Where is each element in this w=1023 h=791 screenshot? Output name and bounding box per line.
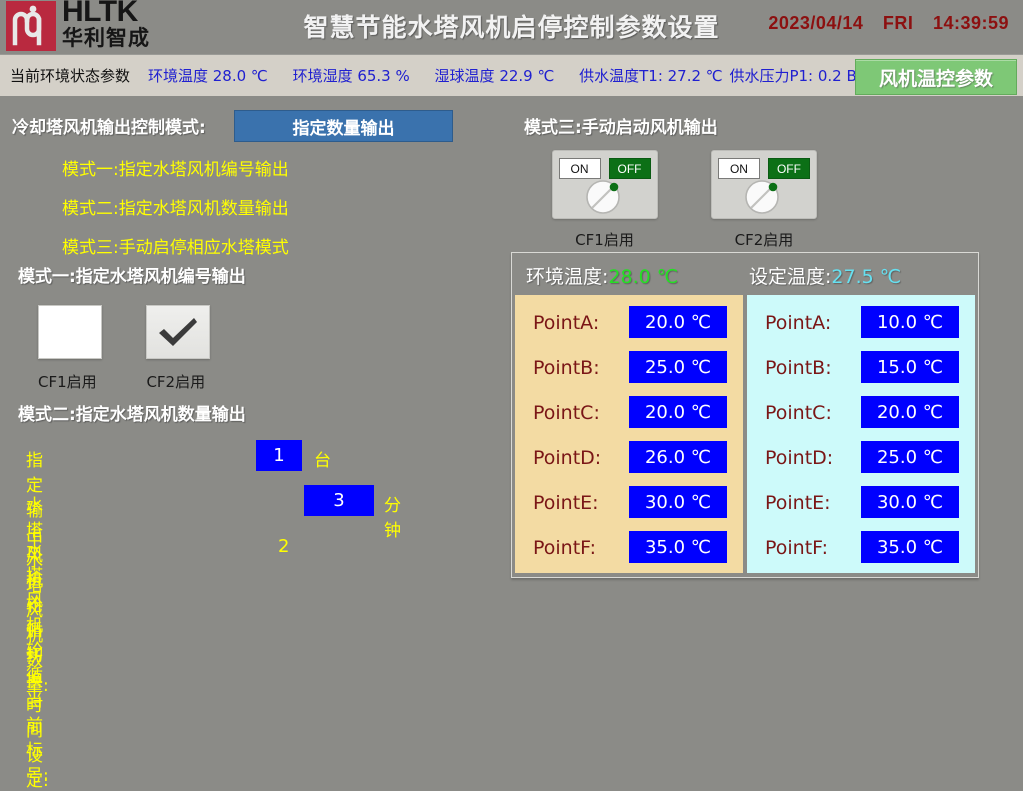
cf1-off-button[interactable]: OFF	[609, 158, 651, 179]
fan-temp-params-button[interactable]: 风机温控参数	[855, 59, 1017, 95]
status-item-supply-temp: 供水温度T1: 27.2 ℃	[579, 67, 723, 85]
env-temp-value: 28.0 ℃	[608, 266, 678, 288]
table-row: PointA: 10.0 ℃	[747, 303, 975, 348]
cf1-checkbox-label: CF1启用	[38, 371, 142, 392]
table-row: PointD: 26.0 ℃	[515, 438, 743, 483]
cf1-switch-label: CF1启用	[527, 229, 682, 250]
status-bar-values: 环境温度 28.0 ℃ 环境湿度 65.3 % 湿球温度 22.9 ℃ 供水温度…	[148, 65, 892, 86]
env-temp-readout: 环境温度:28.0 ℃	[526, 262, 678, 289]
point-label: PointA:	[533, 312, 599, 334]
point-value-input[interactable]: 30.0 ℃	[629, 486, 727, 518]
mode1-section-title: 模式一:指定水塔风机编号输出	[18, 262, 246, 287]
point-label: PointB:	[533, 357, 600, 379]
point-value-input[interactable]: 25.0 ℃	[861, 441, 959, 473]
output-mode-label: 冷却塔风机输出控制模式:	[12, 113, 206, 138]
hmi-screen: HLTK 华利智成 智慧节能水塔风机启停控制参数设置 2023/04/14 FR…	[0, 0, 1023, 594]
point-label: PointE:	[765, 492, 831, 514]
point-value-input[interactable]: 20.0 ℃	[629, 306, 727, 338]
point-label: PointC:	[533, 402, 600, 424]
table-row: PointB: 15.0 ℃	[747, 348, 975, 393]
cf2-off-button[interactable]: OFF	[768, 158, 810, 179]
status-item-wetbulb-temp: 湿球温度 22.9 ℃	[435, 67, 555, 85]
checkbox-item-cf2: CF2启用	[146, 305, 250, 392]
rotation-interval-input[interactable]: 3	[304, 485, 374, 516]
rotation-interval-unit: 分钟	[384, 491, 401, 541]
temperature-panel-header: 环境温度:28.0 ℃ 设定温度:27.5 ℃	[512, 253, 978, 295]
point-value-input[interactable]: 20.0 ℃	[629, 396, 727, 428]
mode3-switch-group: ON OFF CF1启用 ON OFF	[527, 150, 841, 250]
mode-option-list: 模式一:指定水塔风机编号输出 模式二:指定水塔风机数量输出 模式三:手动启停相应…	[62, 155, 289, 272]
table-row: PointA: 20.0 ℃	[515, 303, 743, 348]
set-temp-label: 设定温度:	[749, 266, 831, 288]
table-row: PointE: 30.0 ℃	[515, 483, 743, 528]
mode-option-1[interactable]: 模式一:指定水塔风机编号输出	[62, 155, 289, 180]
mode-option-2[interactable]: 模式二:指定水塔风机数量输出	[62, 194, 289, 219]
point-value-input[interactable]: 10.0 ℃	[861, 306, 959, 338]
table-row: PointF: 35.0 ℃	[747, 528, 975, 573]
mode2-section-title: 模式二:指定水塔风机数量输出	[18, 400, 246, 425]
table-row: PointE: 30.0 ℃	[747, 483, 975, 528]
set-temp-readout: 设定温度:27.5 ℃	[749, 262, 901, 289]
clock-weekday: FRI	[883, 13, 914, 33]
point-label: PointC:	[765, 402, 832, 424]
header-bar: HLTK 华利智成 智慧节能水塔风机启停控制参数设置 2023/04/14 FR…	[0, 0, 1023, 54]
fan-quantity-unit: 台	[314, 446, 331, 471]
clock-time: 14:39:59	[933, 13, 1009, 33]
point-label: PointA:	[765, 312, 831, 334]
checkbox-item-cf1: CF1启用	[38, 305, 142, 392]
point-label: PointD:	[533, 447, 601, 469]
switch-item-cf1: ON OFF CF1启用	[527, 150, 682, 250]
status-bar-label: 当前环境状态参数	[10, 65, 130, 86]
table-row: PointC: 20.0 ℃	[747, 393, 975, 438]
point-value-input[interactable]: 30.0 ℃	[861, 486, 959, 518]
point-value-input[interactable]: 26.0 ℃	[629, 441, 727, 473]
rotation-current-value: 2	[278, 536, 289, 557]
clock-display: 2023/04/14 FRI 14:39:59	[768, 13, 1009, 34]
point-value-input[interactable]: 35.0 ℃	[629, 531, 727, 563]
cf1-rotary-knob-icon[interactable]	[584, 178, 622, 216]
env-temp-label: 环境温度:	[526, 266, 608, 288]
rotation-current-label: 水塔风机轮循当前标号:	[26, 536, 49, 786]
temperature-column-setpoint: PointA: 10.0 ℃ PointB: 15.0 ℃ PointC: 20…	[747, 295, 975, 573]
temperature-columns: PointA: 20.0 ℃ PointB: 25.0 ℃ PointC: 20…	[515, 295, 975, 573]
table-row: PointD: 25.0 ℃	[747, 438, 975, 483]
clock-date: 2023/04/14	[768, 13, 863, 33]
point-label: PointF:	[533, 537, 596, 559]
check-icon	[154, 313, 202, 351]
set-temp-value: 27.5 ℃	[831, 266, 901, 288]
status-item-ambient-humidity: 环境湿度 65.3 %	[293, 67, 410, 85]
mode-option-3[interactable]: 模式三:手动启停相应水塔模式	[62, 233, 289, 258]
table-row: PointC: 20.0 ℃	[515, 393, 743, 438]
status-bar: 当前环境状态参数 环境温度 28.0 ℃ 环境湿度 65.3 % 湿球温度 22…	[0, 54, 1023, 96]
mode1-checkbox-group: CF1启用 CF2启用	[38, 305, 250, 392]
cf2-manual-switch[interactable]: ON OFF	[711, 150, 817, 219]
fan-quantity-input[interactable]: 1	[256, 440, 302, 471]
output-mode-button[interactable]: 指定数量输出	[234, 110, 453, 142]
table-row: PointB: 25.0 ℃	[515, 348, 743, 393]
table-row: PointF: 35.0 ℃	[515, 528, 743, 573]
cf2-on-button[interactable]: ON	[718, 158, 760, 179]
point-label: PointF:	[765, 537, 828, 559]
mode3-section-title: 模式三:手动启动风机输出	[524, 113, 718, 138]
cf1-enable-checkbox[interactable]	[38, 305, 102, 359]
point-value-input[interactable]: 20.0 ℃	[861, 396, 959, 428]
cf1-manual-switch[interactable]: ON OFF	[552, 150, 658, 219]
temperature-setpoint-panel: 环境温度:28.0 ℃ 设定温度:27.5 ℃ PointA: 20.0 ℃ P…	[511, 252, 979, 578]
point-label: PointE:	[533, 492, 599, 514]
point-value-input[interactable]: 35.0 ℃	[861, 531, 959, 563]
switch-item-cf2: ON OFF CF2启用	[686, 150, 841, 250]
point-value-input[interactable]: 15.0 ℃	[861, 351, 959, 383]
cf2-switch-label: CF2启用	[686, 229, 841, 250]
status-item-ambient-temp: 环境温度 28.0 ℃	[148, 67, 268, 85]
cf2-rotary-knob-icon[interactable]	[743, 178, 781, 216]
point-label: PointD:	[765, 447, 833, 469]
point-value-input[interactable]: 25.0 ℃	[629, 351, 727, 383]
point-label: PointB:	[765, 357, 832, 379]
cf2-checkbox-label: CF2启用	[146, 371, 250, 392]
temperature-column-ambient: PointA: 20.0 ℃ PointB: 25.0 ℃ PointC: 20…	[515, 295, 743, 573]
cf1-on-button[interactable]: ON	[559, 158, 601, 179]
cf2-enable-checkbox[interactable]	[146, 305, 210, 359]
status-item-supply-pressure: 供水压力P1: 0.2 Bar	[729, 67, 872, 85]
